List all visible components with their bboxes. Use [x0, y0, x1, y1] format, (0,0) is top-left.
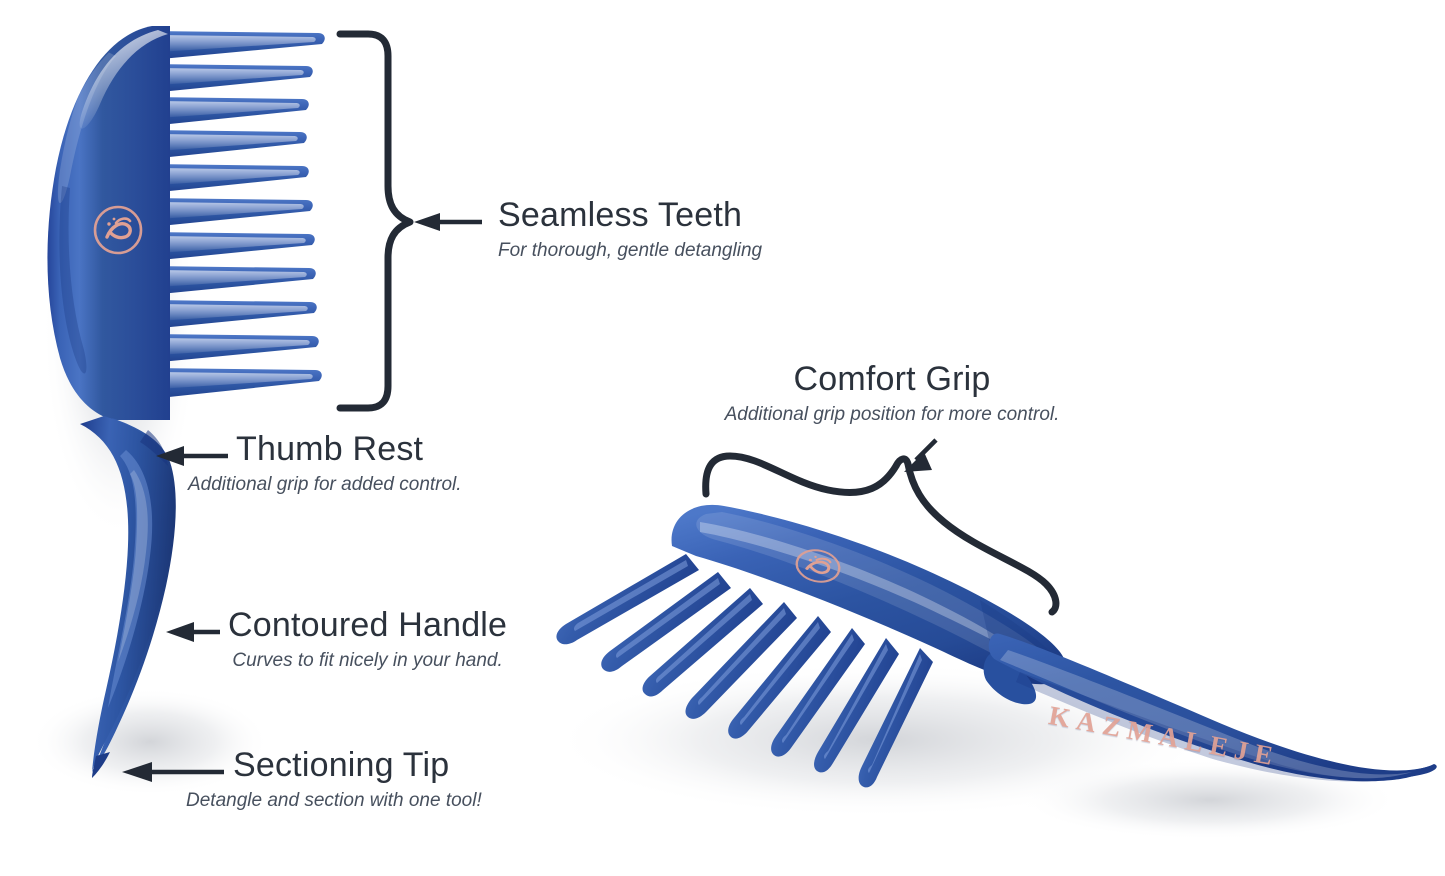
comb-tooth	[150, 300, 317, 329]
callout-sectioning-tip: Sectioning Tip Detangle and section with…	[233, 748, 482, 812]
callout-subtitle: Curves to fit nicely in your hand.	[228, 649, 507, 673]
comb-tooth	[556, 554, 699, 644]
product-illustration-layer	[0, 0, 1445, 876]
callout-title: Seamless Teeth	[498, 198, 762, 234]
arrow-contoured-handle	[166, 622, 220, 642]
comb-tooth	[150, 232, 315, 261]
callout-comfort-grip: Comfort Grip Additional grip position fo…	[725, 362, 1060, 426]
arrow-comfort-grip	[904, 440, 936, 472]
infographic-canvas: Seamless Teeth For thorough, gentle deta…	[0, 0, 1445, 876]
callout-subtitle: Additional grip for added control.	[188, 473, 462, 497]
callout-contoured-handle: Contoured Handle Curves to fit nicely in…	[228, 608, 507, 672]
comb-tooth	[150, 31, 325, 60]
comb-tooth	[150, 334, 319, 363]
callout-title: Comfort Grip	[725, 362, 1060, 398]
callout-thumb-rest: Thumb Rest Additional grip for added con…	[236, 432, 462, 496]
comb-tooth	[150, 97, 309, 126]
comb-tooth	[150, 368, 322, 399]
comb-teeth-group-front	[150, 31, 325, 399]
brace-seamless-teeth	[340, 34, 410, 408]
comb-tooth	[150, 64, 313, 93]
arrow-seamless-teeth	[414, 213, 482, 231]
callout-subtitle: Detangle and section with one tool!	[186, 789, 482, 813]
callout-subtitle: Additional grip position for more contro…	[725, 403, 1060, 427]
comb-tooth	[150, 164, 309, 193]
callout-subtitle: For thorough, gentle detangling	[498, 239, 762, 263]
callout-title: Contoured Handle	[228, 608, 507, 644]
callout-title: Sectioning Tip	[233, 748, 482, 784]
callout-title: Thumb Rest	[236, 432, 462, 468]
comb-tooth	[150, 198, 313, 227]
callout-seamless-teeth: Seamless Teeth For thorough, gentle deta…	[498, 198, 762, 262]
comb-tooth	[150, 130, 307, 159]
comb-tooth	[150, 266, 316, 295]
